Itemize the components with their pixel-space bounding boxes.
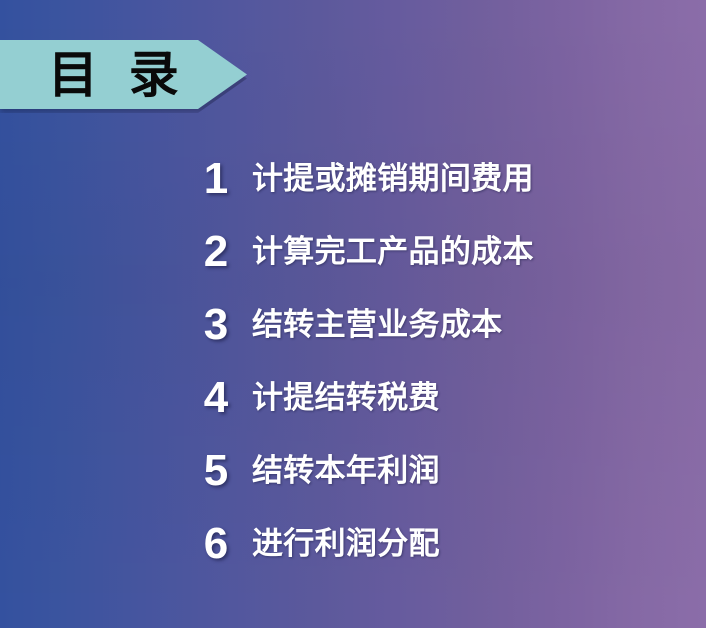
list-item-number: 4: [180, 376, 252, 420]
list-item-number: 1: [180, 157, 252, 201]
list-item-label: 结转主营业务成本: [252, 309, 502, 340]
list-item[interactable]: 1 计提或摊销期间费用: [0, 142, 706, 215]
list-item-label: 进行利润分配: [252, 528, 440, 559]
title-banner: 目 录: [0, 40, 248, 109]
list-item-number: 2: [180, 230, 252, 274]
list-item-label: 计算完工产品的成本: [252, 236, 534, 267]
list-item-number: 3: [180, 303, 252, 347]
list-item[interactable]: 5 结转本年利润: [0, 434, 706, 507]
list-item[interactable]: 4 计提结转税费: [0, 361, 706, 434]
list-item-number: 5: [180, 449, 252, 493]
list-item-number: 6: [180, 522, 252, 566]
list-item[interactable]: 2 计算完工产品的成本: [0, 215, 706, 288]
list-item[interactable]: 3 结转主营业务成本: [0, 288, 706, 361]
page-title: 目 录: [48, 40, 180, 109]
list-item-label: 计提或摊销期间费用: [252, 163, 534, 194]
list-item[interactable]: 6 进行利润分配: [0, 507, 706, 580]
list-item-label: 结转本年利润: [252, 455, 440, 486]
slide-canvas: 目 录 1 计提或摊销期间费用 2 计算完工产品的成本 3 结转主营业务成本 4…: [0, 0, 706, 628]
list-item-label: 计提结转税费: [252, 382, 440, 413]
agenda-list: 1 计提或摊销期间费用 2 计算完工产品的成本 3 结转主营业务成本 4 计提结…: [0, 142, 706, 580]
